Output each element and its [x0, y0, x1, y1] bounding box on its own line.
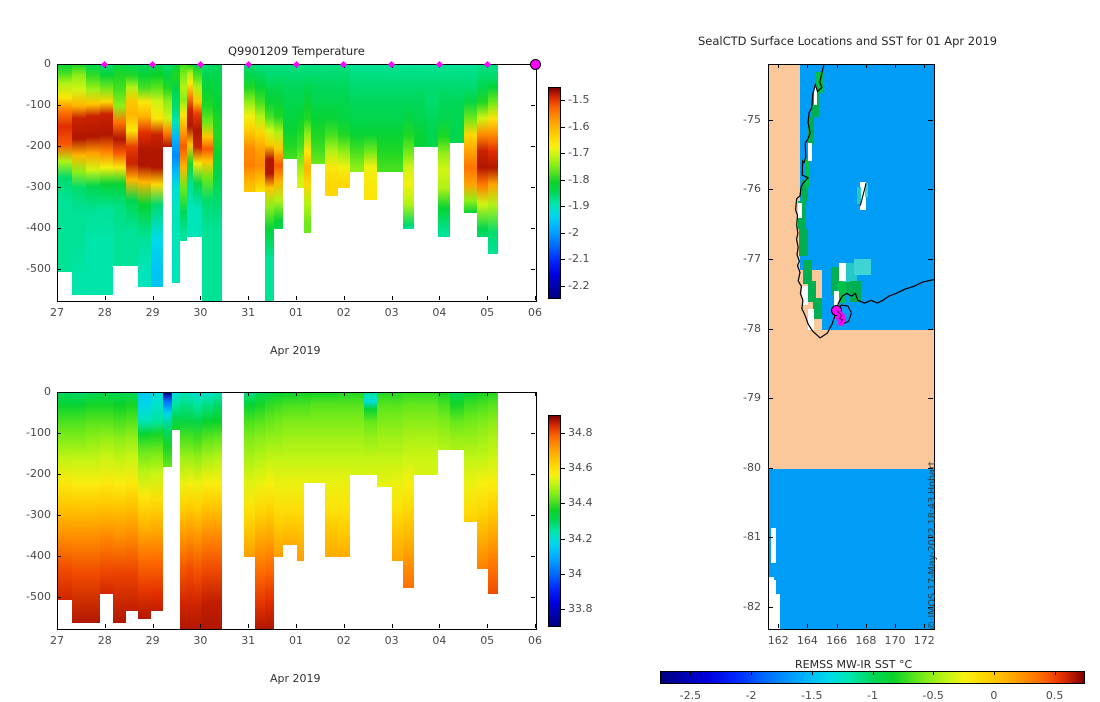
profile-column	[414, 393, 426, 475]
y-tick-label: 0	[13, 57, 51, 70]
profile-column	[274, 393, 283, 557]
sst-colorbar-tick-label: -0.5	[915, 689, 951, 702]
profile-column	[477, 65, 488, 237]
colorbar-tick-label: 34.2	[568, 532, 593, 545]
profile-column	[426, 393, 438, 475]
map-y-tick-label: -76	[728, 182, 761, 195]
x-tick-label: 04	[431, 634, 447, 647]
profile-column	[364, 393, 377, 475]
profile-column	[244, 393, 255, 557]
map-y-tick-label: -81	[728, 530, 761, 543]
profile-column	[244, 65, 255, 192]
map-plot-area[interactable]	[768, 64, 935, 630]
sst-colorbar-tick-label: 0	[976, 689, 1012, 702]
profile-column	[265, 393, 274, 629]
profile-column	[392, 393, 403, 561]
x-tick-label: 28	[97, 634, 113, 647]
sst-colorbar-tick	[1055, 671, 1056, 675]
profile-column	[100, 65, 113, 295]
profile-column	[113, 65, 126, 266]
profile-column	[438, 65, 449, 237]
map-x-tick-label: 172	[912, 634, 936, 647]
profile-column	[138, 65, 150, 287]
colorbar-tick	[561, 127, 565, 128]
y-tick	[57, 597, 61, 598]
x-tick	[344, 296, 345, 300]
map-nodata	[808, 309, 814, 330]
map-ocean-south	[769, 469, 934, 629]
profile-column	[213, 393, 223, 629]
colorbar-tick	[561, 180, 565, 181]
profile-column	[213, 65, 223, 301]
map-x-tick	[895, 64, 896, 68]
x-tick	[57, 624, 58, 628]
map-y-tick-label: -78	[728, 322, 761, 335]
profile-column	[311, 393, 324, 483]
imos-watermark: © IMOS 17-May-2022 18:43 Hobart	[927, 462, 938, 631]
map-y-tick	[928, 189, 933, 190]
profile-column	[72, 65, 85, 295]
x-tick	[535, 624, 536, 628]
profile-column	[163, 65, 172, 147]
map-x-tick	[866, 64, 867, 68]
y-tick-label: 0	[13, 385, 51, 398]
temperature-xlabel: Apr 2019	[270, 344, 321, 357]
map-x-tick	[924, 64, 925, 68]
x-tick	[296, 624, 297, 628]
y-tick	[57, 105, 61, 106]
profile-column	[255, 393, 266, 629]
profile-column	[488, 65, 498, 254]
map-x-tick-label: 168	[854, 634, 878, 647]
sst-colorbar-tick	[873, 671, 874, 675]
colorbar-tick-label: 34.6	[568, 461, 593, 474]
x-tick-label: 03	[384, 634, 400, 647]
colorbar-tick	[561, 206, 565, 207]
y-tick	[531, 105, 535, 106]
map-x-tick	[807, 624, 808, 628]
y-tick	[531, 433, 535, 434]
y-tick	[57, 228, 61, 229]
map-sst-cell	[799, 229, 808, 257]
profile-column	[377, 65, 391, 172]
profile-column	[477, 393, 488, 569]
profile-column	[172, 65, 180, 283]
x-tick	[439, 296, 440, 300]
profile-column	[100, 393, 113, 594]
profile-column	[193, 393, 203, 629]
sst-colorbar-tick-label: 0.5	[1037, 689, 1073, 702]
map-x-tick	[895, 624, 896, 628]
x-tick	[296, 392, 297, 396]
y-tick	[531, 146, 535, 147]
colorbar-tick	[561, 153, 565, 154]
x-tick	[105, 392, 106, 396]
colorbar-tick-label: -2.2	[568, 279, 589, 292]
map-x-tick-label: 164	[795, 634, 819, 647]
x-tick-label: 05	[479, 634, 495, 647]
y-tick	[531, 597, 535, 598]
y-tick	[57, 146, 61, 147]
x-tick-label: 06	[527, 634, 543, 647]
colorbar-tick	[561, 100, 565, 101]
profile-column	[350, 393, 364, 475]
y-tick-label: -200	[13, 139, 51, 152]
sst-colorbar-tick	[812, 671, 813, 675]
map-y-tick	[928, 329, 933, 330]
profile-column	[151, 393, 163, 611]
map-y-tick-label: -77	[728, 252, 761, 265]
x-tick	[105, 296, 106, 300]
colorbar-tick-label: -2	[568, 226, 579, 239]
map-y-tick	[768, 398, 773, 399]
colorbar-tick	[561, 539, 565, 540]
map-y-tick-label: -82	[728, 600, 761, 613]
x-tick	[200, 296, 201, 300]
map-title: SealCTD Surface Locations and SST for 01…	[698, 34, 997, 48]
colorbar-tick-label: -1.9	[568, 199, 589, 212]
temperature-plot-area[interactable]	[57, 64, 537, 302]
y-tick	[531, 515, 535, 516]
sst-colorbar-tick	[933, 671, 934, 675]
profile-column	[86, 65, 100, 295]
colorbar-tick	[561, 233, 565, 234]
profile-column	[265, 65, 274, 301]
map-nodata	[802, 286, 807, 305]
y-tick-label: -200	[13, 467, 51, 480]
x-tick	[344, 392, 345, 396]
y-tick	[57, 515, 61, 516]
colorbar-tick-label: -1.8	[568, 173, 589, 186]
map-y-tick-label: -75	[728, 113, 761, 126]
x-tick-label: 02	[336, 634, 352, 647]
map-x-tick	[837, 64, 838, 68]
map-x-tick	[807, 64, 808, 68]
colorbar-tick-label: 34.8	[568, 426, 593, 439]
map-nodata	[808, 143, 812, 161]
profile-column	[274, 65, 283, 229]
x-tick	[248, 296, 249, 300]
profile-column	[126, 393, 138, 611]
x-tick-label: 29	[145, 634, 161, 647]
map-x-tick-label: 162	[766, 634, 790, 647]
profile-column	[464, 393, 476, 522]
profile-column	[58, 65, 72, 272]
x-tick	[105, 624, 106, 628]
y-tick-label: -300	[13, 508, 51, 521]
sst-colorbar-tick	[751, 671, 752, 675]
profile-column	[255, 65, 266, 192]
profile-column	[338, 65, 349, 188]
profile-column	[86, 393, 100, 623]
x-tick	[392, 392, 393, 396]
colorbar-tick	[561, 574, 565, 575]
x-tick	[392, 624, 393, 628]
y-tick	[531, 474, 535, 475]
profile-column	[450, 393, 464, 450]
profile-column	[58, 393, 72, 600]
y-tick-label: -500	[13, 590, 51, 603]
map-x-tick	[837, 624, 838, 628]
colorbar-tick	[561, 259, 565, 260]
colorbar-tick	[561, 609, 565, 610]
map-y-tick	[768, 607, 773, 608]
map-sst-cell	[805, 159, 810, 187]
map-sst-cell	[865, 183, 868, 197]
y-tick	[57, 433, 61, 434]
profile-column	[403, 393, 414, 588]
map-sst-cell	[854, 259, 872, 276]
y-tick-label: -300	[13, 180, 51, 193]
profile-column	[193, 65, 203, 237]
profile-column	[450, 65, 464, 143]
profile-column	[350, 65, 364, 172]
y-tick	[531, 269, 535, 270]
profile-column	[426, 65, 438, 147]
y-tick	[531, 556, 535, 557]
salinity-xlabel: Apr 2019	[270, 672, 321, 685]
profile-column	[138, 393, 150, 619]
map-sst-cell	[857, 187, 861, 204]
map-sst-cell	[808, 117, 815, 145]
x-tick-label: 01	[288, 306, 304, 319]
y-tick-label: -100	[13, 426, 51, 439]
map-y-tick-label: -80	[728, 461, 761, 474]
x-tick	[153, 296, 154, 300]
y-tick	[531, 187, 535, 188]
map-y-tick	[768, 468, 773, 469]
y-tick-label: -400	[13, 549, 51, 562]
sst-colorbar-tick-label: -2.5	[672, 689, 708, 702]
colorbar-tick-label: 34	[568, 567, 582, 580]
y-tick	[57, 64, 61, 65]
temperature-panel: Q9901209 Temperature 2728293031010203040…	[0, 0, 620, 370]
colorbar-tick-label: 34.4	[568, 496, 593, 509]
x-tick-label: 28	[97, 306, 113, 319]
map-x-tick	[866, 624, 867, 628]
sst-colorbar-tick-label: -2	[733, 689, 769, 702]
profile-column	[364, 65, 377, 200]
map-y-tick	[928, 259, 933, 260]
map-sst-cell	[850, 281, 861, 302]
salinity-panel: 27282930310102030405060-100-200-300-400-…	[0, 370, 620, 690]
profile-column	[297, 65, 304, 188]
y-tick	[57, 269, 61, 270]
profile-column	[338, 393, 349, 557]
surface-marker-highlight[interactable]	[530, 59, 541, 70]
profile-column	[283, 65, 297, 159]
profile-column	[172, 393, 180, 430]
profile-column	[392, 65, 403, 172]
profile-column	[151, 65, 163, 287]
map-y-tick-label: -79	[728, 391, 761, 404]
salinity-colorbar	[548, 415, 561, 627]
x-tick-label: 30	[192, 306, 208, 319]
map-x-tick-label: 166	[825, 634, 849, 647]
y-tick	[531, 228, 535, 229]
x-tick-label: 27	[49, 306, 65, 319]
x-tick	[248, 392, 249, 396]
x-tick-label: 03	[384, 306, 400, 319]
y-tick	[57, 187, 61, 188]
map-marker[interactable]	[838, 320, 844, 326]
x-tick	[344, 624, 345, 628]
map-nodata	[839, 263, 846, 280]
x-tick	[153, 624, 154, 628]
map-y-tick	[768, 120, 773, 121]
y-tick	[57, 392, 61, 393]
map-y-tick	[768, 189, 773, 190]
map-y-tick	[928, 120, 933, 121]
colorbar-tick-label: -1.5	[568, 93, 589, 106]
profile-column	[403, 65, 414, 229]
colorbar-tick	[561, 468, 565, 469]
x-tick	[392, 296, 393, 300]
sst-colorbar-tick-label: -1.5	[794, 689, 830, 702]
x-tick	[57, 296, 58, 300]
x-tick-label: 29	[145, 306, 161, 319]
profile-column	[325, 393, 338, 557]
map-y-tick	[928, 398, 933, 399]
x-tick-label: 31	[240, 634, 256, 647]
map-x-tick	[924, 624, 925, 628]
sst-colorbar-tick-label: -1	[855, 689, 891, 702]
y-tick	[531, 392, 535, 393]
map-nodata	[814, 86, 818, 105]
map-x-tick-label: 170	[883, 634, 907, 647]
x-tick	[248, 624, 249, 628]
salinity-plot-area[interactable]	[57, 392, 537, 630]
x-tick	[535, 296, 536, 300]
map-panel: SealCTD Surface Locations and SST for 01…	[620, 0, 1100, 700]
x-tick-label: 02	[336, 306, 352, 319]
x-tick	[439, 392, 440, 396]
profile-column	[438, 393, 449, 450]
profile-column	[202, 65, 213, 301]
colorbar-tick	[561, 286, 565, 287]
x-tick	[487, 624, 488, 628]
colorbar-tick	[561, 433, 565, 434]
x-tick-label: 04	[431, 306, 447, 319]
profile-column	[304, 393, 312, 483]
colorbar-tick-label: -1.6	[568, 120, 589, 133]
y-tick-label: -500	[13, 262, 51, 275]
profile-column	[311, 65, 324, 164]
sst-colorbar-title: REMSS MW-IR SST °C	[795, 658, 912, 671]
x-tick-label: 01	[288, 634, 304, 647]
x-tick-label: 30	[192, 634, 208, 647]
sst-colorbar-tick	[690, 671, 691, 675]
map-y-tick	[768, 329, 773, 330]
x-tick	[200, 392, 201, 396]
map-ocean	[800, 65, 934, 270]
profile-column	[377, 393, 391, 487]
x-tick	[200, 624, 201, 628]
map-y-tick	[768, 259, 773, 260]
x-tick-label: 05	[479, 306, 495, 319]
map-x-tick	[778, 624, 779, 628]
colorbar-tick-label: 33.8	[568, 602, 593, 615]
y-tick	[57, 556, 61, 557]
profile-column	[464, 65, 476, 213]
profile-column	[283, 393, 297, 545]
x-tick	[296, 296, 297, 300]
x-tick	[153, 392, 154, 396]
map-y-tick	[768, 537, 773, 538]
colorbar-tick-label: -1.7	[568, 146, 589, 159]
profile-column	[414, 65, 426, 147]
sst-colorbar-tick	[994, 671, 995, 675]
map-nodata	[771, 528, 776, 563]
y-tick-label: -400	[13, 221, 51, 234]
colorbar-tick	[561, 503, 565, 504]
profile-column	[304, 65, 312, 233]
x-tick	[487, 392, 488, 396]
profile-column	[163, 393, 172, 467]
y-tick	[57, 474, 61, 475]
x-tick-label: 31	[240, 306, 256, 319]
profile-column	[126, 65, 138, 266]
temperature-title: Q9901209 Temperature	[228, 44, 365, 58]
map-x-tick	[778, 64, 779, 68]
profile-column	[202, 393, 213, 629]
profile-column	[72, 393, 85, 623]
profile-column	[113, 393, 126, 623]
y-tick-label: -100	[13, 98, 51, 111]
profile-column	[297, 393, 304, 561]
x-tick	[535, 392, 536, 396]
colorbar-tick-label: -2.1	[568, 252, 589, 265]
map-nodata	[769, 577, 774, 629]
x-tick-label: 06	[527, 306, 543, 319]
map-nodata	[798, 203, 802, 218]
x-tick	[487, 296, 488, 300]
profile-column	[180, 65, 187, 241]
x-tick	[439, 624, 440, 628]
profile-column	[488, 393, 498, 594]
profile-column	[180, 393, 187, 629]
x-tick-label: 27	[49, 634, 65, 647]
temperature-colorbar	[548, 87, 561, 299]
profile-column	[325, 65, 338, 196]
